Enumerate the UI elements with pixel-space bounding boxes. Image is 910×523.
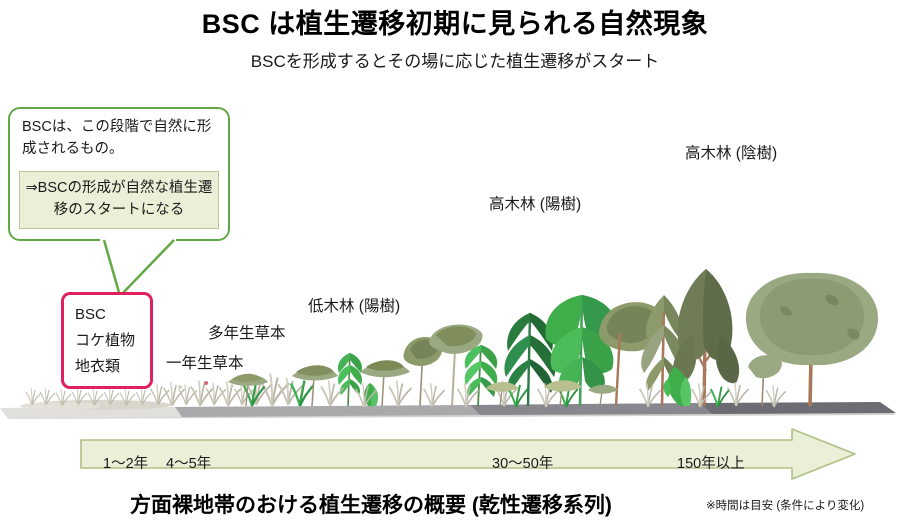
stage-label-annual-herbs: 一年生草本	[166, 351, 244, 373]
bsc-callout-highlight-text: ⇒BSCの形成が自然な植生遷移のスタートになる	[20, 178, 218, 222]
bsc-stage-line-2: コケ植物	[75, 328, 150, 354]
bsc-stage-line-1: BSC	[75, 302, 150, 328]
stage-tall-forest-shade	[640, 269, 879, 407]
stage-bsc-crust	[20, 388, 172, 410]
infographic-root: BSC は植生遷移初期に見られる自然現象 BSCを形成するとその場に応じた植生遷…	[0, 0, 910, 523]
bsc-stage-box: BSC コケ植物 地衣類	[61, 292, 153, 389]
stage-tall-forest-sun	[429, 295, 665, 407]
bsc-callout-bubble: BSCは、この段階で自然に形成されるもの。 ⇒BSCの形成が自然な植生遷移のスタ…	[8, 107, 230, 241]
page-subtitle: BSCを形成するとその場に応じた植生遷移がスタート	[0, 47, 910, 72]
figure-caption-note: ※時間は目安 (条件により変化)	[706, 497, 864, 513]
stage-label-tall-forest-shade: 高木林 (陰樹)	[685, 141, 777, 163]
timeline-label-4: 150年以上	[677, 452, 745, 473]
stage-label-tall-forest-sun: 高木林 (陽樹)	[489, 192, 581, 214]
stage-label-perennial-herbs: 多年生草本	[208, 321, 286, 343]
stage-label-shrubland: 低木林 (陽樹)	[308, 294, 400, 316]
stage-shrubland	[292, 337, 445, 407]
timeline-label-2: 4〜5年	[166, 452, 211, 473]
timeline-label-3: 30〜50年	[492, 452, 553, 473]
bsc-stage-line-3: 地衣類	[75, 354, 150, 380]
page-title: BSC は植生遷移初期に見られる自然現象	[0, 2, 910, 41]
timeline-label-1: 1〜2年	[103, 452, 148, 473]
figure-caption: 方面裸地帯のおける植生遷移の概要 (乾性遷移系列)	[130, 489, 612, 519]
bsc-callout-highlight-box: ⇒BSCの形成が自然な植生遷移のスタートになる	[19, 171, 219, 229]
bsc-callout-body: BSCは、この段階で自然に形成されるもの。	[22, 116, 222, 161]
